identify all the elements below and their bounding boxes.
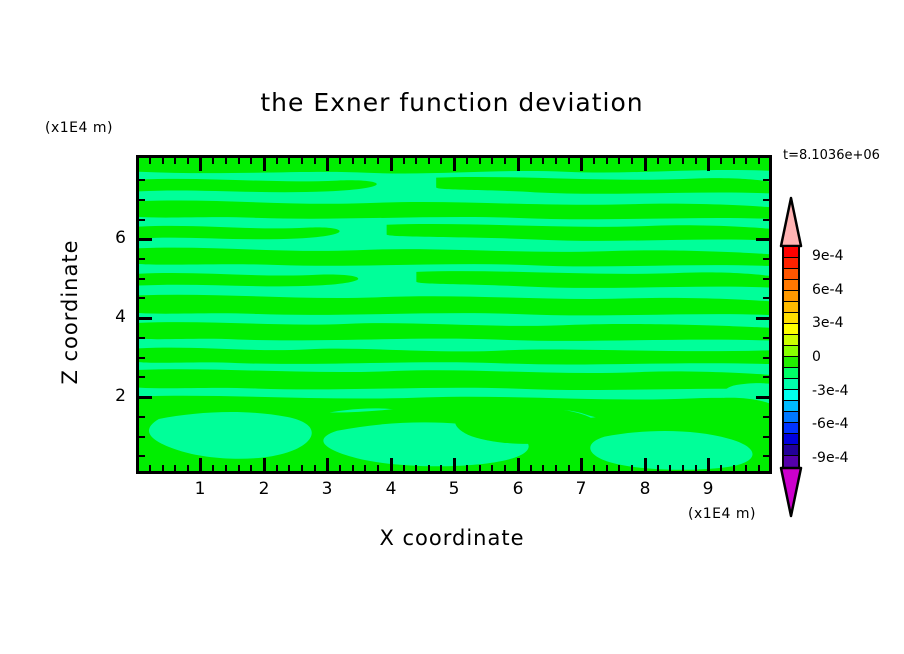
- x-tick-label: 9: [693, 479, 723, 499]
- contour-field: [139, 158, 769, 471]
- colorbar-over-arrow: [778, 196, 804, 248]
- x-axis-unit-label: (x1E4 m): [688, 506, 756, 522]
- colorbar-band: [784, 390, 798, 401]
- figure-canvas: the Exner function deviation (x1E4 m): [0, 0, 904, 654]
- contour-plot-area: [136, 155, 772, 474]
- colorbar-band: [784, 401, 798, 412]
- colorbar-band: [784, 412, 798, 423]
- x-tick-label: 1: [185, 479, 215, 499]
- colorbar-band: [784, 368, 798, 379]
- x-tick-label: 5: [439, 479, 469, 499]
- colorbar-band: [784, 302, 798, 313]
- y-tick-label: 6: [96, 228, 126, 248]
- y-tick-label: 2: [96, 386, 126, 406]
- colorbar: [778, 196, 804, 518]
- colorbar-band: [784, 434, 798, 445]
- timestamp-annotation: t=8.1036e+06: [783, 148, 880, 163]
- colorbar-band: [784, 357, 798, 368]
- y-tick-label: 4: [96, 307, 126, 327]
- colorbar-band: [784, 258, 798, 269]
- colorbar-band: [784, 445, 798, 456]
- x-tick-label: 4: [376, 479, 406, 499]
- colorbar-tick-label: 6e-4: [812, 282, 843, 298]
- colorbar-band: [784, 269, 798, 280]
- colorbar-tick-label: -3e-4: [812, 383, 849, 399]
- colorbar-band: [784, 247, 798, 258]
- colorbar-band: [784, 280, 798, 291]
- colorbar-tick-label: -6e-4: [812, 416, 849, 432]
- colorbar-under-arrow: [778, 466, 804, 518]
- y-axis-title: Z coordinate: [58, 222, 82, 402]
- colorbar-tick-label: 3e-4: [812, 315, 843, 331]
- colorbar-band: [784, 335, 798, 346]
- x-tick-label: 7: [566, 479, 596, 499]
- colorbar-band: [784, 379, 798, 390]
- colorbar-band: [784, 291, 798, 302]
- colorbar-band: [784, 346, 798, 357]
- y-axis-unit-label: (x1E4 m): [45, 120, 113, 136]
- chart-title: the Exner function deviation: [0, 88, 904, 117]
- x-tick-label: 3: [312, 479, 342, 499]
- colorbar-band: [784, 313, 798, 324]
- colorbar-tick-label: 0: [812, 349, 821, 365]
- colorbar-tick-label: 9e-4: [812, 248, 843, 264]
- colorbar-bands: [782, 245, 800, 469]
- x-tick-label: 2: [249, 479, 279, 499]
- colorbar-band: [784, 423, 798, 434]
- x-axis-title: X coordinate: [0, 526, 904, 550]
- x-tick-label: 6: [503, 479, 533, 499]
- x-tick-label: 8: [630, 479, 660, 499]
- colorbar-band: [784, 324, 798, 335]
- colorbar-tick-label: -9e-4: [812, 450, 849, 466]
